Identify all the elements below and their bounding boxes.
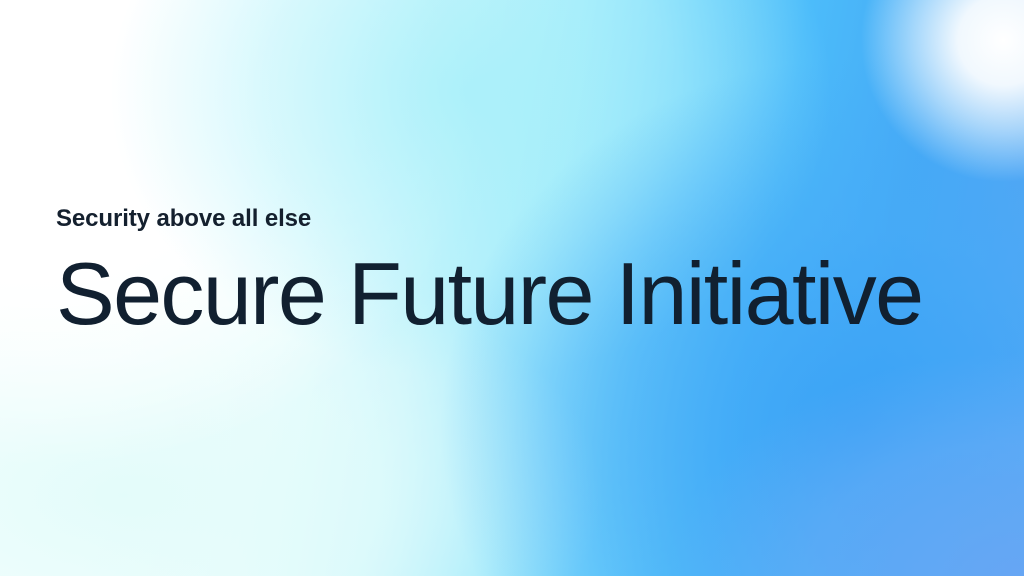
hero-eyebrow: Security above all else: [56, 204, 956, 234]
hero-headline: Secure Future Initiative: [56, 246, 956, 342]
hero-text-block: Security above all else Secure Future In…: [56, 204, 956, 342]
hero-slide: Security above all else Secure Future In…: [0, 0, 1024, 576]
